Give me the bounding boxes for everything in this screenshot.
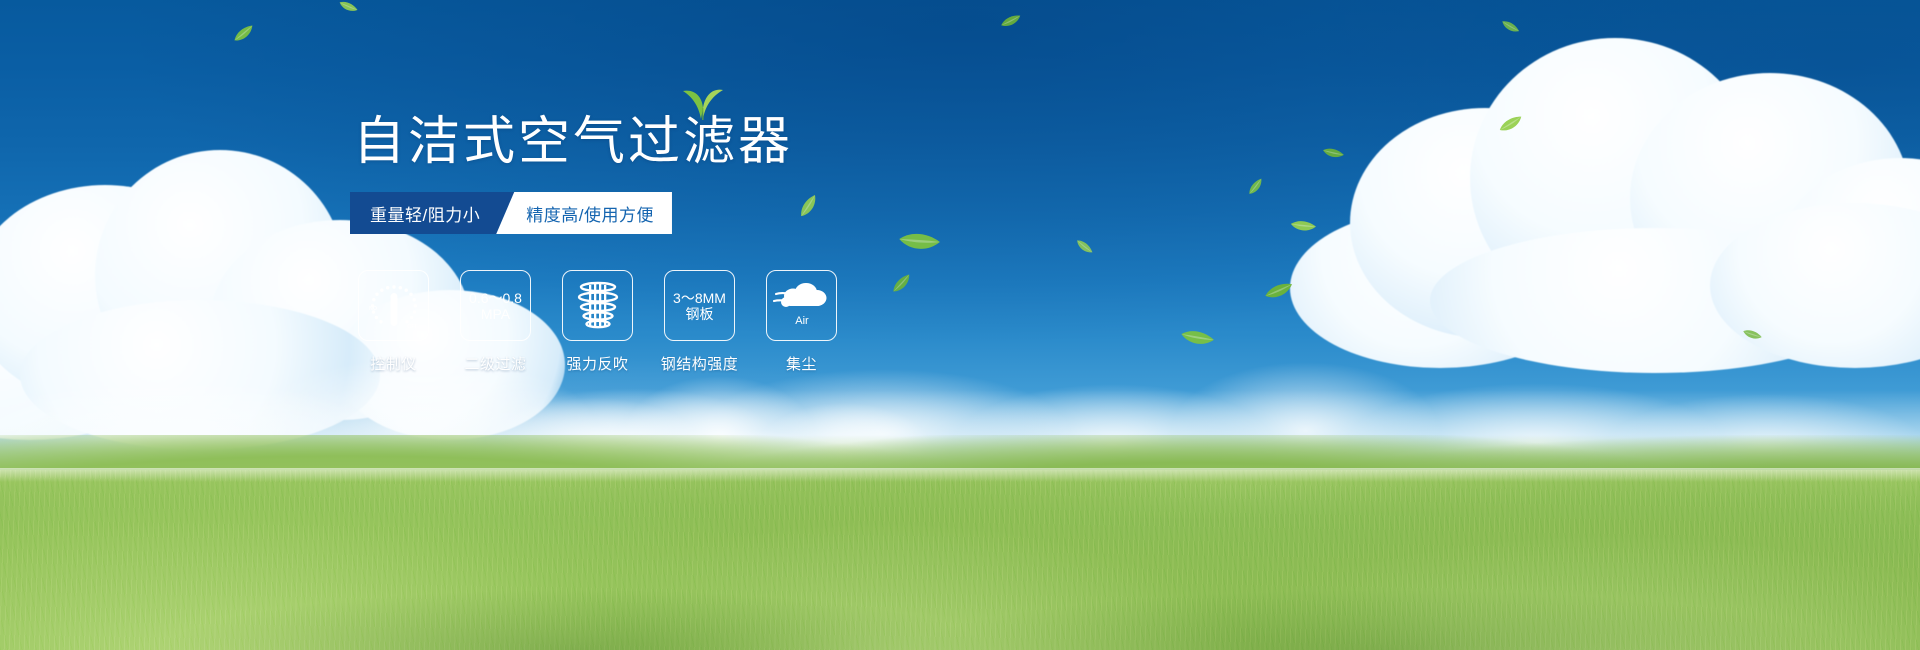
cloud-cluster-right	[1280, 28, 1920, 368]
feature-label-dust-collection: 集尘	[786, 353, 817, 374]
cloud-air-icon: Air	[773, 281, 831, 331]
feature-box-two-stage-filter[interactable]: 0.6～0.8 MPA	[460, 270, 531, 341]
banner-content: 自洁式空气过滤器 重量轻/阻力小 精度高/使用方便	[350, 0, 1070, 650]
feature-label-controller: 控制仪	[370, 353, 417, 374]
feature-tab-group[interactable]: 重量轻/阻力小 精度高/使用方便	[350, 192, 672, 234]
hero-banner: 自洁式空气过滤器 重量轻/阻力小 精度高/使用方便	[0, 0, 1920, 650]
feature-item-two-stage-filter[interactable]: 0.6～0.8 MPA 二级过滤	[460, 270, 531, 374]
feature-box-strong-backblow[interactable]	[562, 270, 633, 341]
feature-value-pressure-unit: MPA	[469, 306, 522, 322]
feature-label-steel-strength: 钢结构强度	[661, 353, 739, 374]
feature-box-dust-collection[interactable]: Air	[766, 270, 837, 341]
tab-high-precision-easy-use[interactable]: 精度高/使用方便	[496, 192, 672, 234]
feature-item-controller[interactable]: NO OFF 控制仪	[358, 270, 429, 374]
feature-value-pressure-range: 0.6～0.8	[469, 290, 522, 306]
gauge-dial-icon: NO OFF	[365, 278, 423, 334]
svg-text:OFF: OFF	[407, 324, 417, 330]
feature-label-strong-backblow: 强力反吹	[566, 353, 628, 374]
feature-value-steel-thickness: 3～8MM	[673, 290, 726, 306]
airflow-coil-icon	[573, 280, 623, 332]
cloud-air-label: Air	[795, 315, 809, 327]
tab-lightweight-low-resistance[interactable]: 重量轻/阻力小	[350, 192, 514, 234]
title-leaf-ornament-icon	[680, 86, 726, 120]
feature-box-controller[interactable]: NO OFF	[358, 270, 429, 341]
feature-item-dust-collection[interactable]: Air 集尘	[766, 270, 837, 374]
feature-icon-row: NO OFF 控制仪 0.6～0.8 MPA 二级过滤	[358, 270, 837, 374]
feature-item-steel-strength[interactable]: 3～8MM 钢板 钢结构强度	[664, 270, 735, 374]
feature-value-steel-plate: 钢板	[673, 306, 726, 322]
page-title: 自洁式空气过滤器	[353, 116, 793, 168]
feature-item-strong-backblow[interactable]: 强力反吹	[562, 270, 633, 374]
feature-label-two-stage-filter: 二级过滤	[464, 353, 526, 374]
feature-box-steel-strength[interactable]: 3～8MM 钢板	[664, 270, 735, 341]
svg-text:NO: NO	[369, 306, 377, 312]
